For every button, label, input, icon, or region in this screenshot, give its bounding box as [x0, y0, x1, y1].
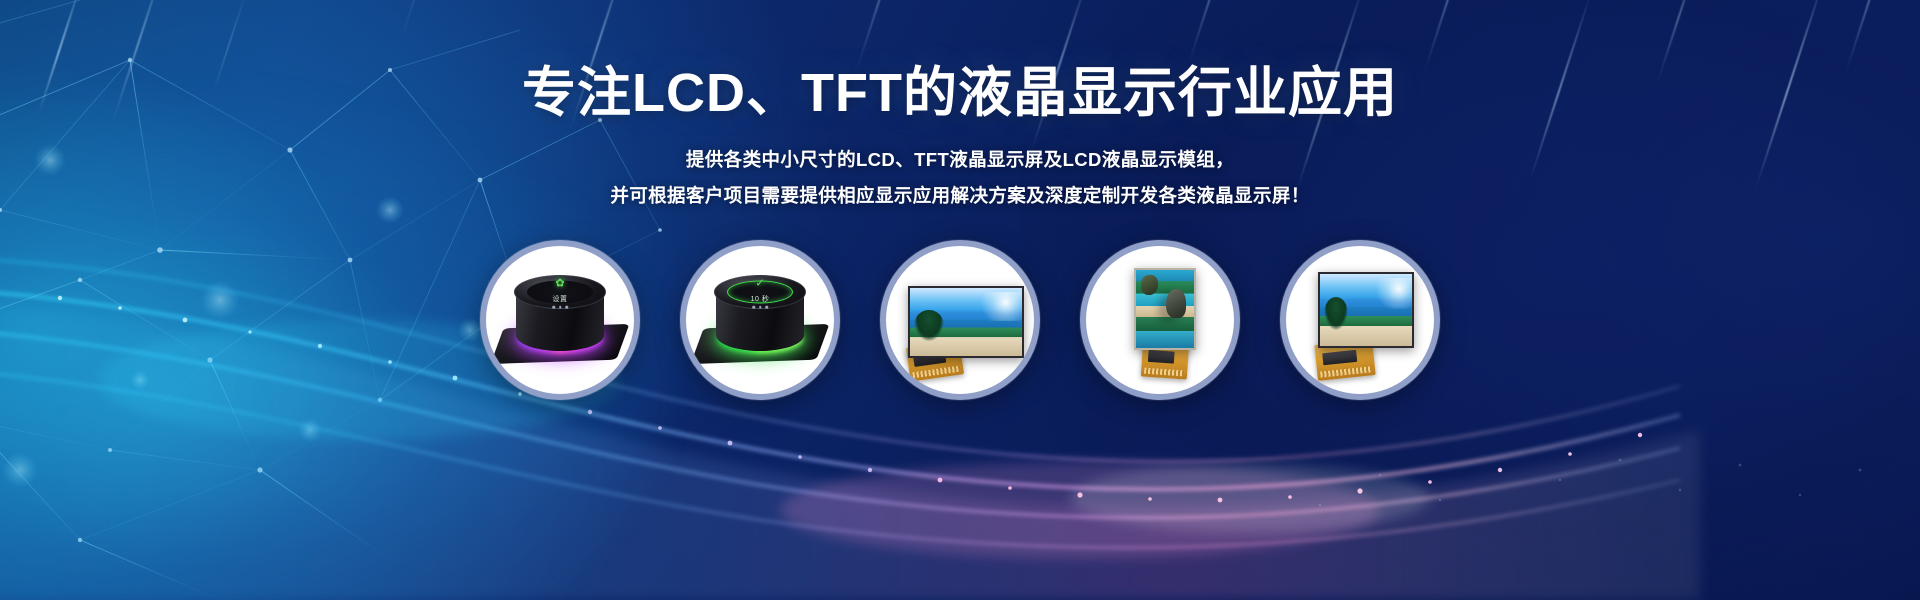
driver-chip: [1147, 349, 1174, 363]
subtitle-line-1: 提供各类中小尺寸的LCD、TFT液晶显示屏及LCD液晶显示模组，: [0, 142, 1920, 178]
lcd-panel: [908, 286, 1024, 358]
cable-pads: [1321, 366, 1372, 378]
flower-icon: ✿: [555, 279, 564, 290]
device-indicator-dots: [752, 306, 768, 309]
product-circle-smart-speaker-green[interactable]: ✓ 10 秒: [680, 240, 840, 400]
product-circle-row: ✿ 设置 ✓ 10 秒: [0, 240, 1920, 400]
leaf-icon: ✓: [755, 279, 764, 290]
product-circle-tft-lcd-square[interactable]: [1280, 240, 1440, 400]
driver-chip: [1322, 349, 1357, 365]
product-image-smart-speaker-violet: ✿ 设置: [486, 246, 634, 394]
lcd-panel: [1134, 268, 1196, 350]
product-image-smart-speaker-green: ✓ 10 秒: [686, 246, 834, 394]
palm-tree-shape: [914, 310, 943, 341]
product-circle-smart-speaker-violet[interactable]: ✿ 设置: [480, 240, 640, 400]
subtitle-line-2: 并可根据客户项目需要提供相应显示应用解决方案及深度定制开发各类液晶显示屏！: [0, 178, 1920, 214]
product-image-tft-lcd-square: [1286, 246, 1434, 394]
banner-text-block: 专注LCD、TFT的液晶显示行业应用 提供各类中小尺寸的LCD、TFT液晶显示屏…: [0, 0, 1920, 214]
product-circle-tft-lcd-portrait[interactable]: [1080, 240, 1240, 400]
palm-tree-shape: [1324, 297, 1348, 330]
hero-banner: 专注LCD、TFT的液晶显示行业应用 提供各类中小尺寸的LCD、TFT液晶显示屏…: [0, 0, 1920, 600]
rock-formation-shape: [1166, 289, 1186, 319]
device-screen-label: 10 秒: [751, 294, 770, 304]
page-title: 专注LCD、TFT的液晶显示行业应用: [0, 62, 1920, 124]
product-image-tft-lcd-widescreen: [886, 246, 1034, 394]
product-image-tft-lcd-portrait: [1086, 246, 1234, 394]
cable-pads: [1144, 367, 1185, 376]
banner-subtitle: 提供各类中小尺寸的LCD、TFT液晶显示屏及LCD液晶显示模组， 并可根据客户项…: [0, 142, 1920, 214]
lcd-screen-image: [1136, 270, 1194, 348]
product-circle-tft-lcd-widescreen[interactable]: [880, 240, 1040, 400]
device-indicator-dots: [552, 306, 568, 309]
cliff-shape: [1141, 275, 1158, 295]
lcd-panel: [1318, 272, 1414, 348]
device-screen-label: 设置: [553, 294, 568, 304]
lcd-screen-image: [1320, 274, 1412, 346]
cable-pads: [913, 366, 961, 379]
lcd-screen-image: [910, 288, 1022, 356]
